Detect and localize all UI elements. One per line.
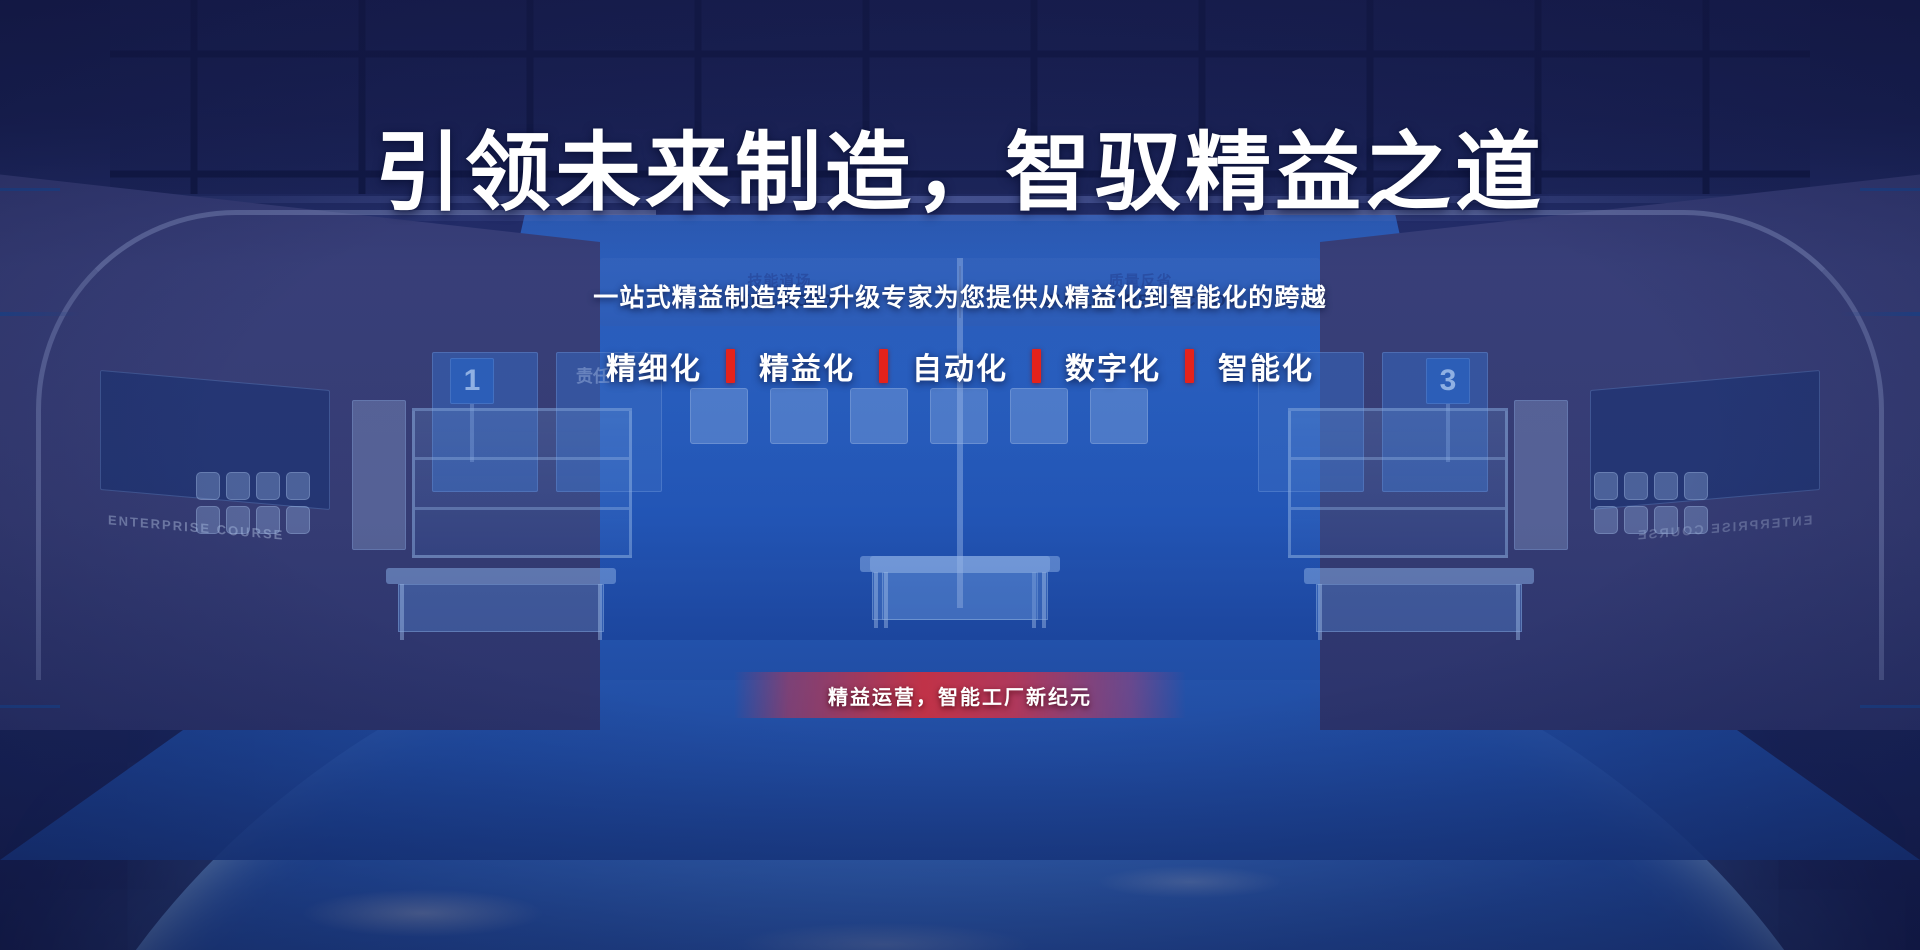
page-title: 引领未来制造，智驭精益之道 xyxy=(375,130,1545,216)
keyword-item: 精细化 xyxy=(582,344,726,388)
keyword-separator-icon xyxy=(726,349,735,383)
keyword-item: 精益化 xyxy=(735,344,879,388)
keyword-item: 智能化 xyxy=(1194,344,1338,388)
hero-subtitle: 一站式精益制造转型升级专家为您提供从精益化到智能化的跨越 xyxy=(593,278,1327,314)
keyword-list: 精细化 精益化 自动化 数字化 智能化 xyxy=(582,344,1338,388)
keyword-separator-icon xyxy=(1185,349,1194,383)
keyword-separator-icon xyxy=(879,349,888,383)
bottom-slogan-text: 精益运营，智能工厂新纪元 xyxy=(828,681,1092,710)
keyword-item: 数字化 xyxy=(1041,344,1185,388)
hero-content: 引领未来制造，智驭精益之道 一站式精益制造转型升级专家为您提供从精益化到智能化的… xyxy=(0,0,1920,950)
keyword-separator-icon xyxy=(1032,349,1041,383)
bottom-slogan-banner: 精益运营，智能工厂新纪元 xyxy=(734,672,1186,718)
keyword-item: 自动化 xyxy=(888,344,1032,388)
hero-banner: ENTERPRISE COURSE ENTERPRISE COURSE xyxy=(0,0,1920,950)
